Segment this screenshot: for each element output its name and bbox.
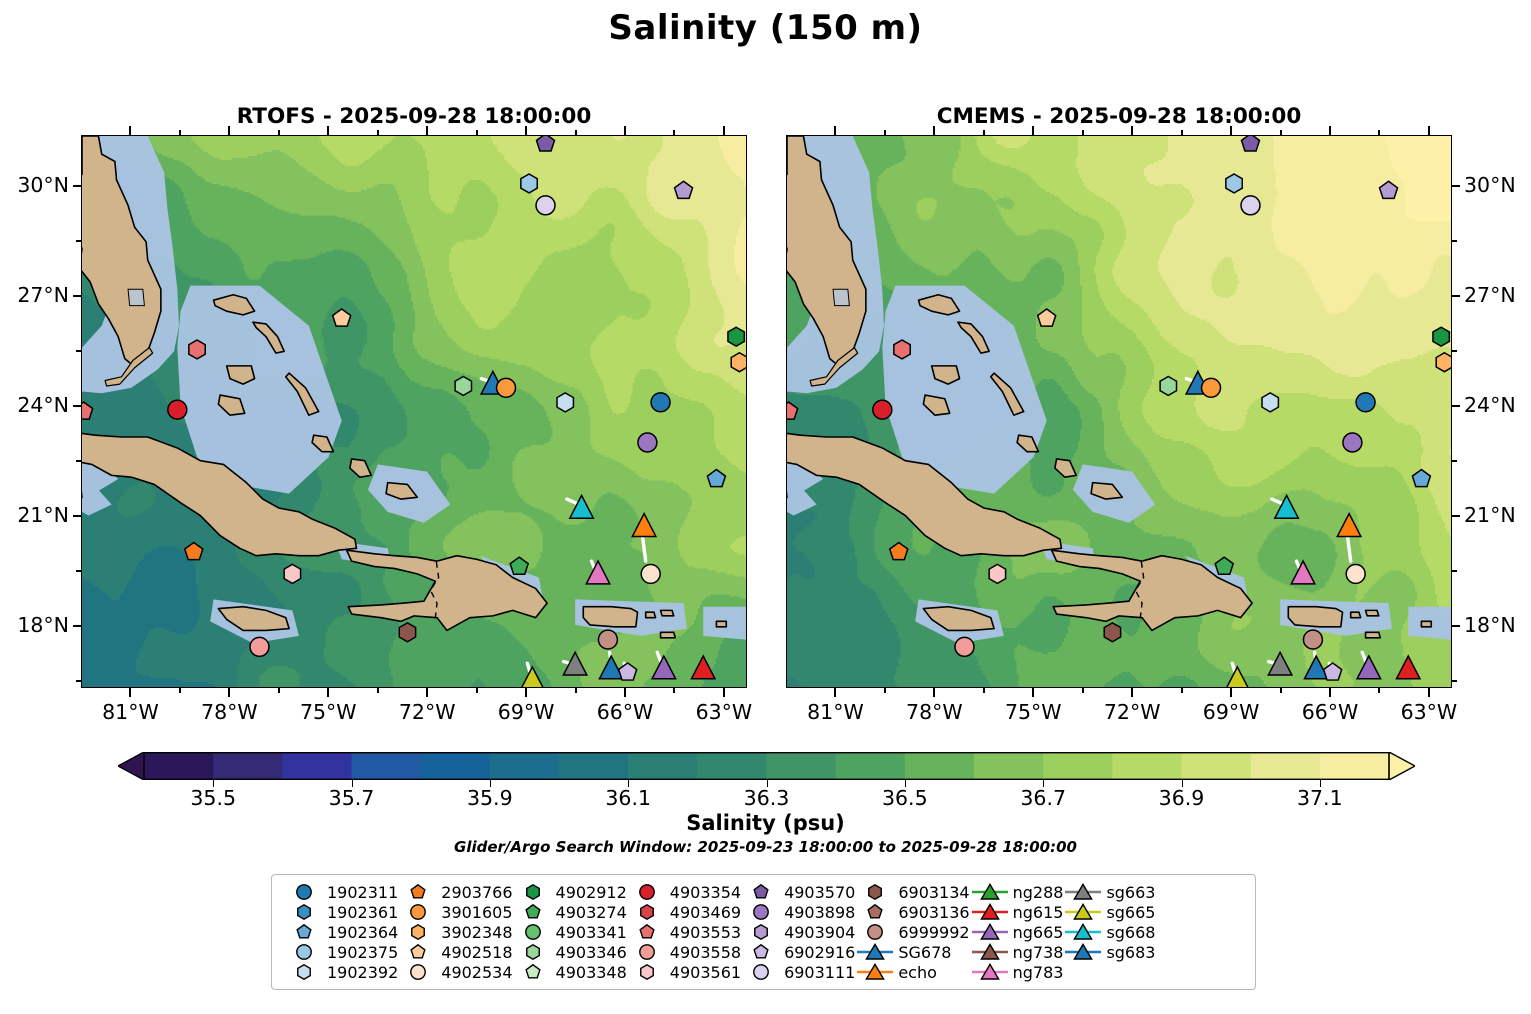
legend-item-ng783[interactable]: ng783 bbox=[970, 962, 1064, 982]
ytick-minor-left bbox=[76, 350, 81, 352]
legend-marker-4902518 bbox=[398, 942, 438, 962]
legend-marker-3902348 bbox=[398, 922, 438, 942]
legend-column-4: 49035704903898490390469029166903111 bbox=[741, 882, 855, 982]
legend-label: SG678 bbox=[895, 943, 951, 962]
xtick-minor bbox=[179, 688, 181, 693]
xtick bbox=[1032, 688, 1034, 697]
legend-label: 4903898 bbox=[781, 903, 855, 922]
panel-title-cmems: CMEMS - 2025-09-28 18:00:00 bbox=[786, 104, 1452, 129]
ytick-right bbox=[1452, 625, 1460, 627]
legend-item-2903766[interactable]: 2903766 bbox=[398, 882, 512, 902]
legend-marker-4903469 bbox=[627, 902, 667, 922]
xtick bbox=[933, 688, 935, 697]
xtick-label-p0-72°W: 72°W bbox=[382, 700, 472, 724]
legend-item-6902916[interactable]: 6902916 bbox=[741, 942, 855, 962]
xtick-label-p1-81°W: 81°W bbox=[790, 700, 880, 724]
legend-marker-2903766 bbox=[398, 882, 438, 902]
legend-item-6903111[interactable]: 6903111 bbox=[741, 962, 855, 982]
xtick-minor-top bbox=[884, 130, 886, 135]
xtick bbox=[723, 688, 725, 697]
legend-marker-ng783 bbox=[970, 962, 1010, 982]
legend-label: 6903111 bbox=[781, 963, 855, 982]
xtick-top bbox=[1428, 126, 1430, 135]
legend-item-1902364[interactable]: 1902364 bbox=[284, 922, 398, 942]
xtick-minor bbox=[377, 688, 379, 693]
ytick-label-left-30°N: 30°N bbox=[17, 173, 69, 197]
rtofs-salinity-map bbox=[82, 136, 746, 687]
xtick-minor-top bbox=[983, 130, 985, 135]
legend-item-echo[interactable]: echo bbox=[855, 962, 969, 982]
legend-label: 4903904 bbox=[781, 923, 855, 942]
xtick-top bbox=[723, 126, 725, 135]
colorbar-label-36.9: 36.9 bbox=[1159, 786, 1205, 810]
xtick-label-p0-75°W: 75°W bbox=[283, 700, 373, 724]
xtick-label-p0-69°W: 69°W bbox=[481, 700, 571, 724]
xtick-minor-top bbox=[476, 130, 478, 135]
legend-item-4903558[interactable]: 4903558 bbox=[627, 942, 741, 962]
ytick-minor-right bbox=[1452, 350, 1457, 352]
ytick-label-left-27°N: 27°N bbox=[17, 283, 69, 307]
legend-label: 4903354 bbox=[667, 883, 741, 902]
legend-item-4902912[interactable]: 4902912 bbox=[513, 882, 627, 902]
colorbar-label-35.9: 35.9 bbox=[467, 786, 513, 810]
legend-marker-sg683 bbox=[1063, 942, 1103, 962]
ytick-minor-right bbox=[1452, 570, 1457, 572]
legend-item-4903553[interactable]: 4903553 bbox=[627, 922, 741, 942]
ytick-label-left-24°N: 24°N bbox=[17, 393, 69, 417]
legend-label: 1902392 bbox=[324, 963, 398, 982]
legend-item-SG678[interactable]: SG678 bbox=[855, 942, 969, 962]
legend-label: sg683 bbox=[1103, 943, 1155, 962]
legend-label: 3902348 bbox=[438, 923, 512, 942]
legend-label: 4903341 bbox=[553, 923, 627, 942]
xtick bbox=[1329, 688, 1331, 697]
legend-column-2: 49029124903274490334149033464903348 bbox=[513, 882, 627, 982]
legend-item-sg668[interactable]: sg668 bbox=[1063, 922, 1155, 942]
colorbar-label-36.1: 36.1 bbox=[605, 786, 651, 810]
legend-item-4903274[interactable]: 4903274 bbox=[513, 902, 627, 922]
legend-column-6: ng288ng615ng665ng738ng783 bbox=[970, 882, 1064, 982]
legend-label: sg668 bbox=[1103, 923, 1155, 942]
xtick-label-p0-78°W: 78°W bbox=[184, 700, 274, 724]
ytick-minor-left bbox=[76, 240, 81, 242]
legend-marker-4903561 bbox=[627, 962, 667, 982]
legend-marker-6903136 bbox=[855, 902, 895, 922]
legend-item-4902534[interactable]: 4902534 bbox=[398, 962, 512, 982]
xtick-label-p1-78°W: 78°W bbox=[889, 700, 979, 724]
ytick-label-left-21°N: 21°N bbox=[17, 503, 69, 527]
legend-marker-sg665 bbox=[1063, 902, 1103, 922]
legend-item-4903341[interactable]: 4903341 bbox=[513, 922, 627, 942]
colorbar-label-36.3: 36.3 bbox=[744, 786, 790, 810]
ytick-label-right-30°N: 30°N bbox=[1464, 173, 1516, 197]
legend-column-3: 49033544903469490355349035584903561 bbox=[627, 882, 741, 982]
legend-marker-ng738 bbox=[970, 942, 1010, 962]
xtick-label-p1-63°W: 63°W bbox=[1384, 700, 1474, 724]
xtick-minor-top bbox=[1280, 130, 1282, 135]
legend-marker-echo bbox=[855, 962, 895, 982]
legend-marker-sg663 bbox=[1063, 882, 1103, 902]
xtick-minor bbox=[1181, 688, 1183, 693]
legend-marker-1902311 bbox=[284, 882, 324, 902]
legend-marker-4902534 bbox=[398, 962, 438, 982]
legend-item-4903898[interactable]: 4903898 bbox=[741, 902, 855, 922]
legend-item-6903136[interactable]: 6903136 bbox=[855, 902, 969, 922]
legend-label: sg665 bbox=[1103, 903, 1155, 922]
xtick bbox=[1131, 688, 1133, 697]
ytick-right bbox=[1452, 295, 1460, 297]
legend-marker-SG678 bbox=[855, 942, 895, 962]
legend-label: 1902311 bbox=[324, 883, 398, 902]
xtick-label-p1-72°W: 72°W bbox=[1087, 700, 1177, 724]
xtick-top bbox=[624, 126, 626, 135]
legend-marker-1902361 bbox=[284, 902, 324, 922]
xtick-minor bbox=[1082, 688, 1084, 693]
xtick-minor bbox=[884, 688, 886, 693]
xtick-minor-top bbox=[278, 130, 280, 135]
legend-marker-4903570 bbox=[741, 882, 781, 902]
legend-item-4903570[interactable]: 4903570 bbox=[741, 882, 855, 902]
xtick-label-p1-69°W: 69°W bbox=[1186, 700, 1276, 724]
xtick-label-p1-75°W: 75°W bbox=[988, 700, 1078, 724]
legend-label: ng615 bbox=[1010, 903, 1064, 922]
legend-label: 3901605 bbox=[438, 903, 512, 922]
legend-marker-ng288 bbox=[970, 882, 1010, 902]
legend-marker-4903346 bbox=[513, 942, 553, 962]
legend-item-sg663[interactable]: sg663 bbox=[1063, 882, 1155, 902]
legend-label: 4903561 bbox=[667, 963, 741, 982]
legend-item-sg665[interactable]: sg665 bbox=[1063, 902, 1155, 922]
xtick-minor-top bbox=[1082, 130, 1084, 135]
xtick-minor bbox=[575, 688, 577, 693]
legend-marker-3901605 bbox=[398, 902, 438, 922]
legend-label: 4903346 bbox=[553, 943, 627, 962]
legend-marker-4903558 bbox=[627, 942, 667, 962]
legend-item-3902348[interactable]: 3902348 bbox=[398, 922, 512, 942]
xtick-top bbox=[933, 126, 935, 135]
legend-marker-6903111 bbox=[741, 962, 781, 982]
legend-item-1902375[interactable]: 1902375 bbox=[284, 942, 398, 962]
legend-item-6999992[interactable]: 6999992 bbox=[855, 922, 969, 942]
ytick-minor-left bbox=[76, 460, 81, 462]
legend-item-1902361[interactable]: 1902361 bbox=[284, 902, 398, 922]
xtick-minor-top bbox=[1181, 130, 1183, 135]
legend-item-ng665[interactable]: ng665 bbox=[970, 922, 1064, 942]
xtick-top bbox=[1032, 126, 1034, 135]
colorbar-gradient bbox=[118, 752, 1415, 780]
legend-marker-4902912 bbox=[513, 882, 553, 902]
colorbar-label-35.5: 35.5 bbox=[190, 786, 236, 810]
legend-item-ng615[interactable]: ng615 bbox=[970, 902, 1064, 922]
legend-item-3901605[interactable]: 3901605 bbox=[398, 902, 512, 922]
colorbar-label-37.1: 37.1 bbox=[1297, 786, 1343, 810]
legend-label: ng783 bbox=[1010, 963, 1064, 982]
xtick-label-p1-66°W: 66°W bbox=[1285, 700, 1375, 724]
legend-item-ng738[interactable]: ng738 bbox=[970, 942, 1064, 962]
legend-marker-4903341 bbox=[513, 922, 553, 942]
xtick-minor-top bbox=[575, 130, 577, 135]
legend-label: 4903553 bbox=[667, 923, 741, 942]
xtick-minor bbox=[278, 688, 280, 693]
legend-grid: 1902311190236119023641902375190239229037… bbox=[272, 875, 1255, 989]
xtick bbox=[426, 688, 428, 697]
xtick bbox=[834, 688, 836, 697]
xtick-top bbox=[129, 126, 131, 135]
legend-marker-ng665 bbox=[970, 922, 1010, 942]
search-window-caption: Glider/Argo Search Window: 2025-09-23 18… bbox=[0, 838, 1531, 856]
legend-label: 4902912 bbox=[553, 883, 627, 902]
xtick bbox=[1230, 688, 1232, 697]
ytick-minor-right bbox=[1452, 680, 1457, 682]
xtick-minor bbox=[1378, 688, 1380, 693]
xtick-minor bbox=[983, 688, 985, 693]
xtick-top bbox=[834, 126, 836, 135]
legend-label: ng738 bbox=[1010, 943, 1064, 962]
xtick-top bbox=[1230, 126, 1232, 135]
legend-marker-6903134 bbox=[855, 882, 895, 902]
legend-item-sg683[interactable]: sg683 bbox=[1063, 942, 1155, 962]
cmems-salinity-map bbox=[787, 136, 1451, 687]
xtick-top bbox=[426, 126, 428, 135]
colorbar-label-36.7: 36.7 bbox=[1020, 786, 1066, 810]
map-panel-cmems[interactable] bbox=[786, 135, 1452, 688]
ytick-minor-left bbox=[76, 570, 81, 572]
legend-item-1902311[interactable]: 1902311 bbox=[284, 882, 398, 902]
legend-label: 6999992 bbox=[895, 923, 969, 942]
xtick-minor bbox=[1280, 688, 1282, 693]
legend-item-4903346[interactable]: 4903346 bbox=[513, 942, 627, 962]
legend-label: sg663 bbox=[1103, 883, 1155, 902]
xtick bbox=[228, 688, 230, 697]
legend-label: 1902375 bbox=[324, 943, 398, 962]
colorbar-label-35.7: 35.7 bbox=[329, 786, 375, 810]
legend-label: 6903134 bbox=[895, 883, 969, 902]
legend-label: 4903570 bbox=[781, 883, 855, 902]
ytick-left bbox=[73, 515, 81, 517]
legend-column-0: 19023111902361190236419023751902392 bbox=[284, 882, 398, 982]
xtick-minor-top bbox=[179, 130, 181, 135]
legend-marker-4903904 bbox=[741, 922, 781, 942]
ytick-right bbox=[1452, 185, 1460, 187]
legend-label: 4903469 bbox=[667, 903, 741, 922]
xtick-label-p0-63°W: 63°W bbox=[679, 700, 769, 724]
ytick-label-right-18°N: 18°N bbox=[1464, 613, 1516, 637]
legend-column-7: sg663sg665sg668sg683 bbox=[1063, 882, 1155, 982]
xtick-minor bbox=[673, 688, 675, 693]
legend-column-5: 690313469031366999992SG678echo bbox=[855, 882, 969, 982]
legend-item-4903469[interactable]: 4903469 bbox=[627, 902, 741, 922]
legend-item-4903561[interactable]: 4903561 bbox=[627, 962, 741, 982]
ytick-minor-left bbox=[76, 680, 81, 682]
legend-marker-1902392 bbox=[284, 962, 324, 982]
legend-label: echo bbox=[895, 963, 937, 982]
ytick-left bbox=[73, 625, 81, 627]
ytick-left bbox=[73, 405, 81, 407]
xtick-minor-top bbox=[673, 130, 675, 135]
legend-label: 6903136 bbox=[895, 903, 969, 922]
legend-marker-4903553 bbox=[627, 922, 667, 942]
legend-label: 1902361 bbox=[324, 903, 398, 922]
ytick-label-right-21°N: 21°N bbox=[1464, 503, 1516, 527]
xtick-top bbox=[1329, 126, 1331, 135]
legend-marker-sg668 bbox=[1063, 922, 1103, 942]
legend-marker-6902916 bbox=[741, 942, 781, 962]
xtick-top bbox=[1131, 126, 1133, 135]
legend-marker-1902364 bbox=[284, 922, 324, 942]
xtick-minor-top bbox=[1378, 130, 1380, 135]
ytick-left bbox=[73, 295, 81, 297]
legend-label: 4903558 bbox=[667, 943, 741, 962]
xtick-top bbox=[525, 126, 527, 135]
ytick-label-right-27°N: 27°N bbox=[1464, 283, 1516, 307]
ytick-minor-right bbox=[1452, 460, 1457, 462]
legend-label: 2903766 bbox=[438, 883, 512, 902]
ytick-left bbox=[73, 185, 81, 187]
legend-item-4902518[interactable]: 4902518 bbox=[398, 942, 512, 962]
legend-item-6903134[interactable]: 6903134 bbox=[855, 882, 969, 902]
legend-label: ng665 bbox=[1010, 923, 1064, 942]
ytick-right bbox=[1452, 515, 1460, 517]
legend-marker-4903348 bbox=[513, 962, 553, 982]
figure-title: Salinity (150 m) bbox=[0, 8, 1531, 48]
xtick-minor-top bbox=[377, 130, 379, 135]
xtick bbox=[624, 688, 626, 697]
map-panel-rtofs[interactable] bbox=[81, 135, 747, 688]
xtick-label-p0-66°W: 66°W bbox=[580, 700, 670, 724]
xtick bbox=[129, 688, 131, 697]
figure-canvas: Salinity (150 m) RTOFS - 2025-09-28 18:0… bbox=[0, 0, 1531, 1014]
xtick-top bbox=[327, 126, 329, 135]
legend-marker-ng615 bbox=[970, 902, 1010, 922]
panel-title-rtofs: RTOFS - 2025-09-28 18:00:00 bbox=[81, 104, 747, 129]
legend-marker-1902375 bbox=[284, 942, 324, 962]
legend-label: 1902364 bbox=[324, 923, 398, 942]
legend-item-4903348[interactable]: 4903348 bbox=[513, 962, 627, 982]
legend-column-1: 29037663901605390234849025184902534 bbox=[398, 882, 512, 982]
legend-item-4903904[interactable]: 4903904 bbox=[741, 922, 855, 942]
legend-label: 4903348 bbox=[553, 963, 627, 982]
ytick-label-right-24°N: 24°N bbox=[1464, 393, 1516, 417]
legend-item-1902392[interactable]: 1902392 bbox=[284, 962, 398, 982]
legend-label: 4902534 bbox=[438, 963, 512, 982]
ytick-minor-right bbox=[1452, 240, 1457, 242]
xtick bbox=[327, 688, 329, 697]
legend-label: 6902916 bbox=[781, 943, 855, 962]
legend-marker-4903274 bbox=[513, 902, 553, 922]
colorbar-title: Salinity (psu) bbox=[0, 811, 1531, 835]
xtick bbox=[525, 688, 527, 697]
legend-marker-6999992 bbox=[855, 922, 895, 942]
legend-marker-4903354 bbox=[627, 882, 667, 902]
xtick bbox=[1428, 688, 1430, 697]
legend-marker-4903898 bbox=[741, 902, 781, 922]
ytick-label-left-18°N: 18°N bbox=[17, 613, 69, 637]
ytick-right bbox=[1452, 405, 1460, 407]
legend-label: 4903274 bbox=[553, 903, 627, 922]
legend-label: ng288 bbox=[1010, 883, 1064, 902]
legend-item-4903354[interactable]: 4903354 bbox=[627, 882, 741, 902]
legend-label: 4902518 bbox=[438, 943, 512, 962]
legend-item-ng288[interactable]: ng288 bbox=[970, 882, 1064, 902]
xtick-top bbox=[228, 126, 230, 135]
colorbar-label-36.5: 36.5 bbox=[882, 786, 928, 810]
xtick-minor bbox=[476, 688, 478, 693]
xtick-label-p0-81°W: 81°W bbox=[85, 700, 175, 724]
colorbar[interactable] bbox=[118, 752, 1415, 780]
platform-legend[interactable]: 1902311190236119023641902375190239229037… bbox=[271, 874, 1256, 990]
